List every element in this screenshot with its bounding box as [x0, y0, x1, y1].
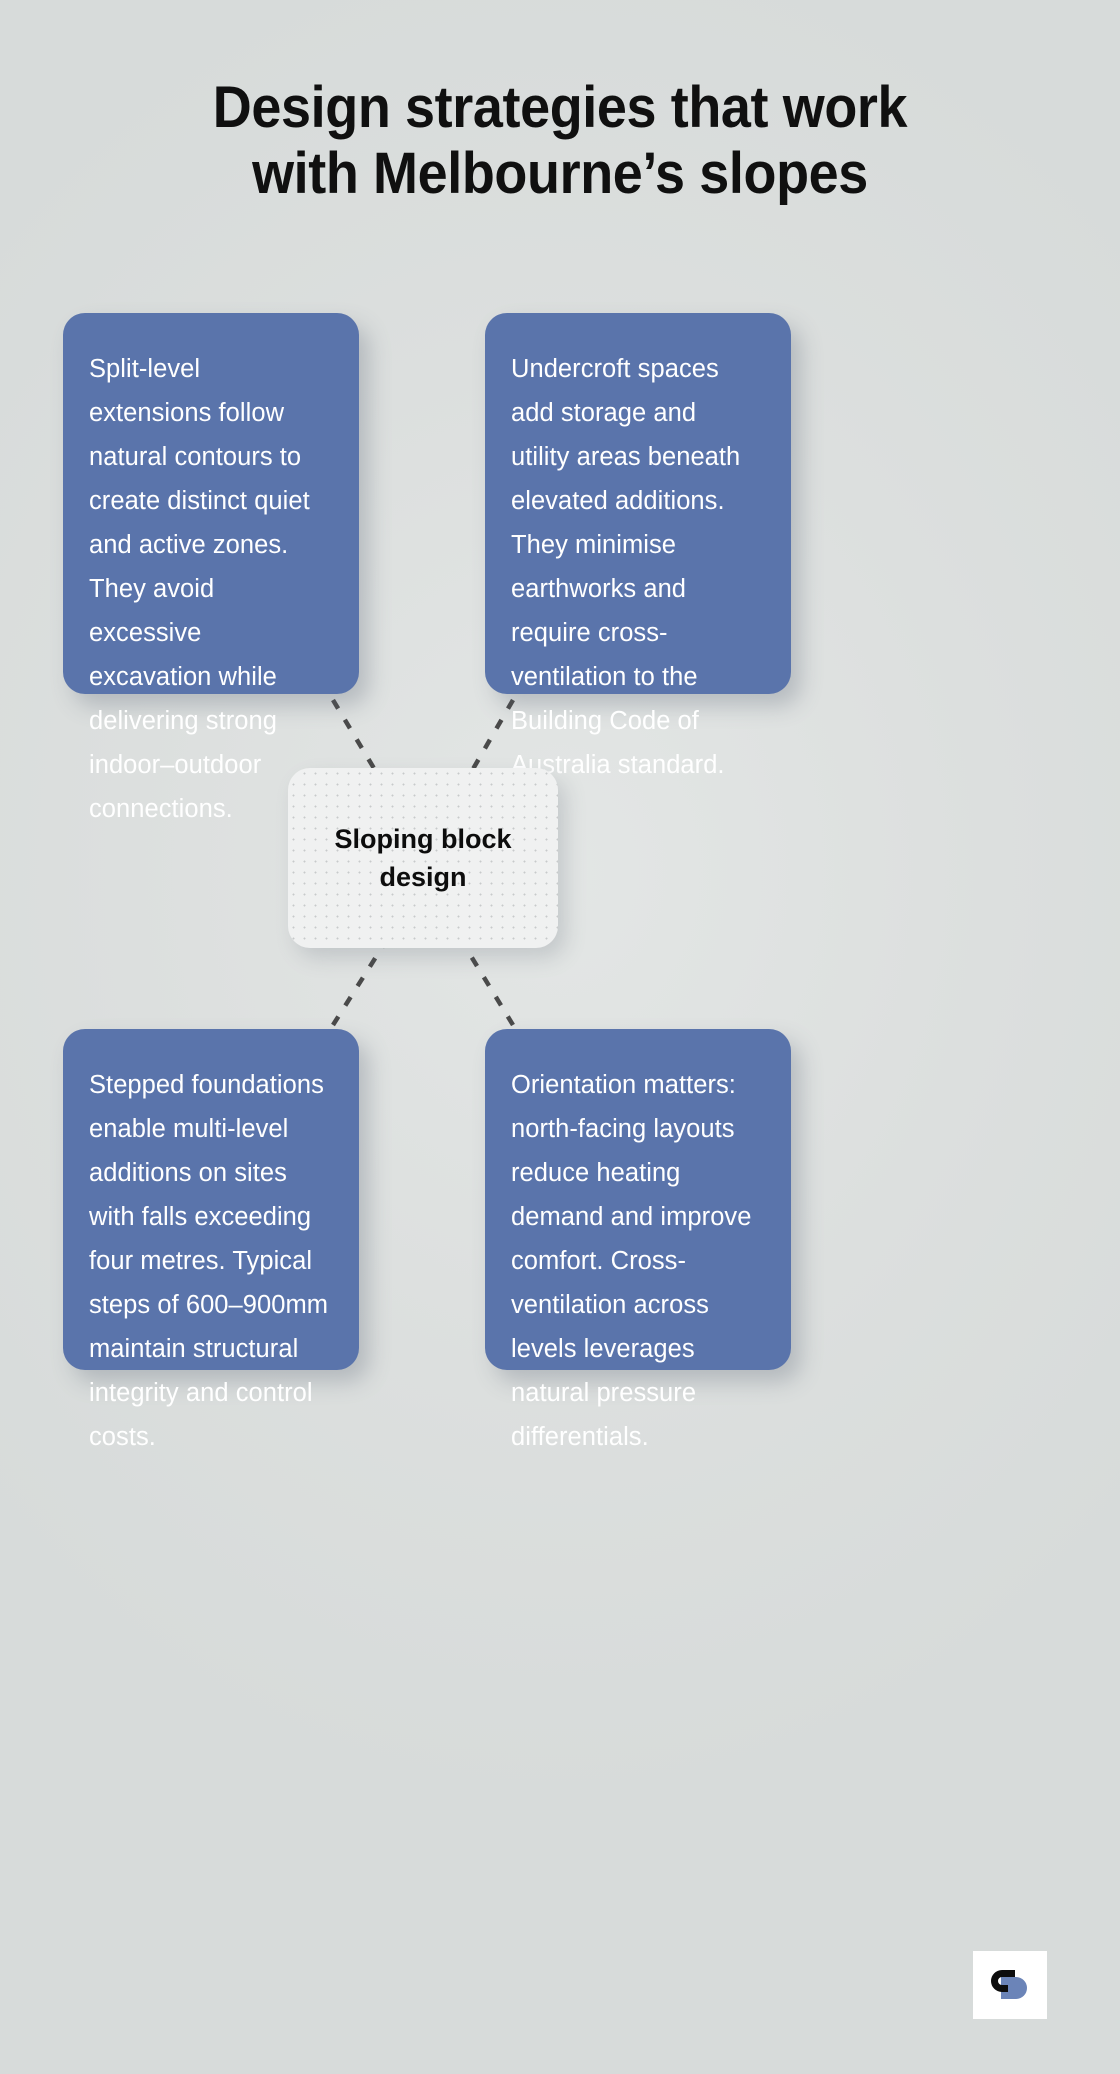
- infographic-canvas: Design strategies that work with Melbour…: [0, 0, 1120, 2074]
- info-card-text: Orientation matters: north-facing layout…: [511, 1063, 761, 1459]
- info-card-text: Undercroft spaces add storage and utilit…: [511, 347, 761, 787]
- info-card-top-right: Undercroft spaces add storage and utilit…: [485, 313, 791, 694]
- center-node-label: Sloping block design: [288, 820, 558, 896]
- info-card-bottom-left: Stepped foundations enable multi-level a…: [63, 1029, 359, 1370]
- page-title: Design strategies that work with Melbour…: [39, 75, 1081, 207]
- center-node: Sloping block design: [288, 768, 558, 948]
- page-title-line-2: with Melbourne’s slopes: [39, 141, 1081, 207]
- info-card-bottom-right: Orientation matters: north-facing layout…: [485, 1029, 791, 1370]
- logo-plate: [973, 1951, 1047, 2019]
- info-card-text: Stepped foundations enable multi-level a…: [89, 1063, 329, 1459]
- info-card-text: Split-level extensions follow natural co…: [89, 347, 329, 831]
- page-title-line-1: Design strategies that work: [39, 75, 1081, 141]
- info-card-top-left: Split-level extensions follow natural co…: [63, 313, 359, 694]
- brand-monogram-icon: [987, 1968, 1033, 2002]
